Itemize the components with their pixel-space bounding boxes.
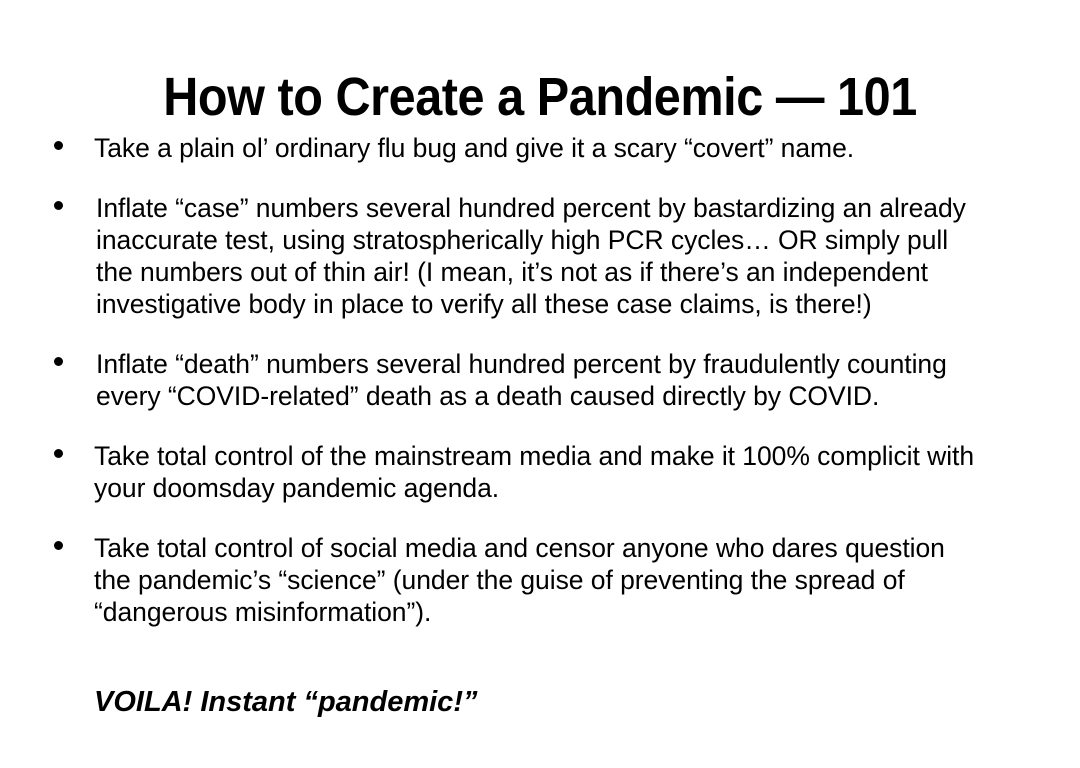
text-line: Take a plain ol’ ordinary flu bug and gi…: [94, 132, 1046, 164]
list-item-text: Take total control of the mainstream med…: [94, 440, 1046, 504]
list-item: Take a plain ol’ ordinary flu bug and gi…: [46, 132, 1046, 164]
bullet-circle-icon: [54, 141, 63, 150]
text-line: Take total control of the mainstream med…: [94, 440, 1046, 472]
bullet-circle-icon: [54, 357, 63, 366]
closing-statement: VOILA! Instant “pandemic!”: [94, 685, 477, 719]
bullet-circle-icon: [54, 541, 63, 550]
bullet-list: Take a plain ol’ ordinary flu bug and gi…: [46, 132, 1046, 628]
list-item-text: Inflate “case” numbers several hundred p…: [96, 192, 1046, 320]
text-line: your doomsday pandemic agenda.: [94, 472, 1046, 504]
bullet-circle-icon: [54, 449, 63, 458]
text-line: inaccurate test, using stratospherically…: [96, 224, 1046, 256]
text-line: Inflate “case” numbers several hundred p…: [96, 192, 1046, 224]
text-line: the pandemic’s “science” (under the guis…: [94, 564, 1046, 596]
list-item-text: Inflate “death” numbers several hundred …: [96, 348, 1046, 412]
text-line: investigative body in place to verify al…: [96, 288, 1046, 320]
page-title: How to Create a Pandemic — 101: [54, 66, 1026, 128]
list-item: Inflate “case” numbers several hundred p…: [46, 192, 1046, 320]
list-item: Take total control of the mainstream med…: [46, 440, 1046, 504]
text-line: “dangerous misinformation”).: [94, 596, 1046, 628]
bullet-circle-icon: [54, 201, 63, 210]
list-item: Take total control of social media and c…: [46, 532, 1046, 628]
text-line: every “COVID-related” death as a death c…: [96, 380, 1046, 412]
list-item: Inflate “death” numbers several hundred …: [46, 348, 1046, 412]
list-item-text: Take a plain ol’ ordinary flu bug and gi…: [94, 132, 1046, 164]
list-item-text: Take total control of social media and c…: [94, 532, 1046, 628]
text-line: Take total control of social media and c…: [94, 532, 1046, 564]
slide-canvas: How to Create a Pandemic — 101 Take a pl…: [0, 0, 1080, 768]
text-line: the numbers out of thin air! (I mean, it…: [96, 256, 1046, 288]
text-line: Inflate “death” numbers several hundred …: [96, 348, 1046, 380]
